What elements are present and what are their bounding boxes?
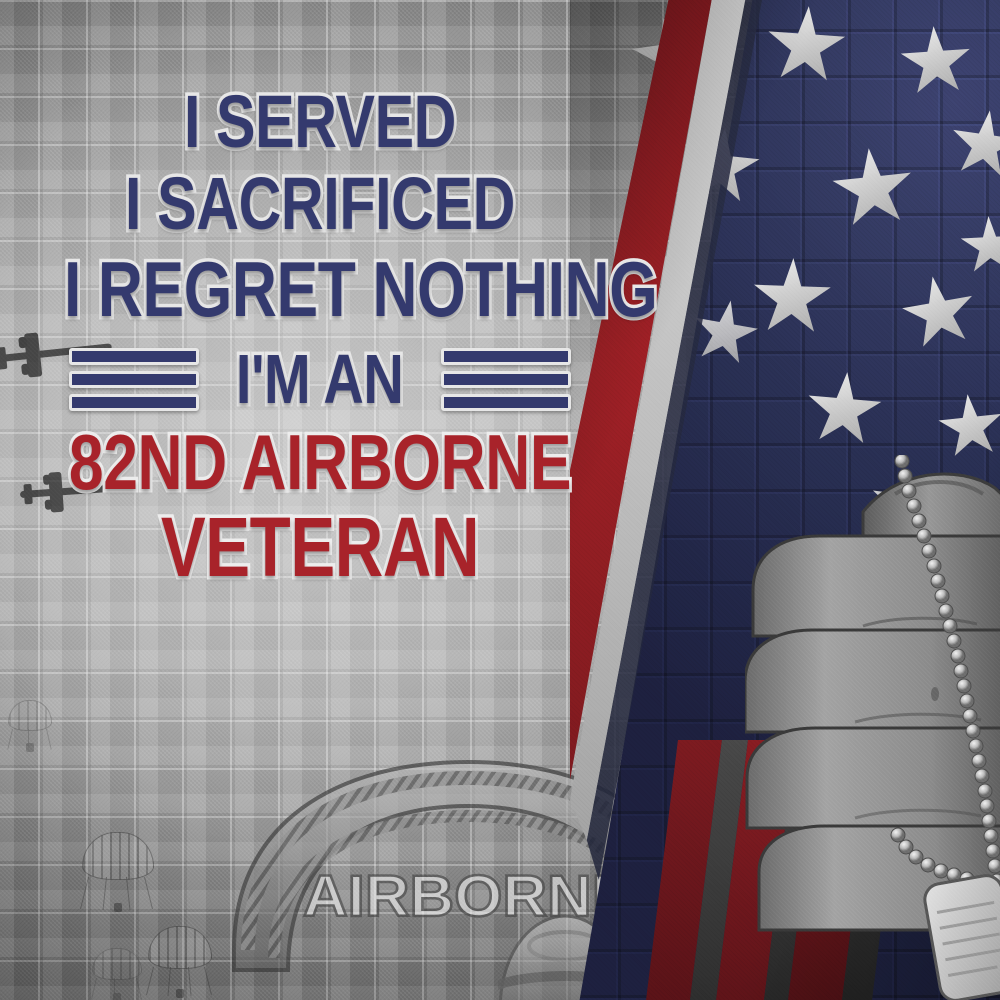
headline-text-block: I SERVED I SACRIFICED I REGRET NOTHING I…: [0, 88, 640, 586]
headline-row-im-an: I'M AN: [0, 342, 640, 417]
parachute-icon: [148, 926, 212, 996]
parachute-icon: [82, 832, 154, 910]
headline-line-5: 82ND AIRBORNE: [64, 427, 576, 499]
headline-line-4: I'M AN: [236, 347, 403, 411]
veteran-poster: AIRBORNE: [0, 0, 1000, 1000]
rank-bars-right: [441, 342, 571, 417]
headline-line-2: I SACRIFICED: [64, 170, 576, 238]
headline-line-3: I REGRET NOTHING: [64, 254, 576, 326]
headline-line-1: I SERVED: [64, 88, 576, 156]
parachute-icon: [92, 948, 142, 1000]
headline-line-6: VETERAN: [64, 509, 576, 586]
dog-tags-icon: [880, 455, 1000, 1000]
rank-bars-left: [69, 342, 199, 417]
parachute-icon: [8, 700, 52, 750]
